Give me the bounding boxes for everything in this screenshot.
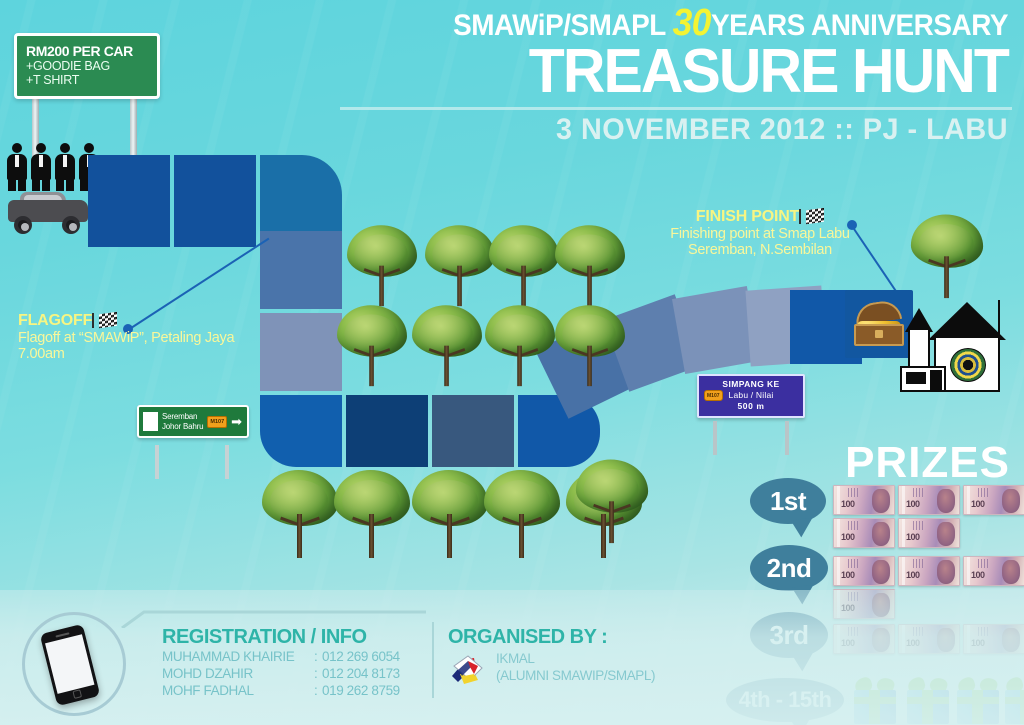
header-divider bbox=[340, 107, 1012, 110]
finish-line2: Seremban, N.Sembilan bbox=[640, 242, 880, 258]
banknote-icon: 100 bbox=[898, 485, 960, 515]
prize-rank-bubble: 1st bbox=[750, 478, 826, 524]
simpang-post-left bbox=[713, 421, 717, 455]
tree-icon bbox=[551, 225, 628, 308]
banknote-value: 100 bbox=[906, 570, 920, 580]
price-sign-line1: RM200 PER CAR bbox=[26, 43, 149, 59]
organiser-row: IKMAL (ALUMNI SMAWIP/SMAPL) bbox=[448, 650, 748, 692]
contact-separator: : bbox=[314, 682, 322, 699]
tree-icon bbox=[408, 305, 485, 388]
tree-icon bbox=[572, 460, 652, 546]
banknote-value: 100 bbox=[906, 499, 920, 509]
price-sign-line2: +GOODIE BAG bbox=[26, 59, 149, 73]
footer-divider bbox=[432, 622, 434, 698]
checkered-flag-icon bbox=[99, 312, 117, 329]
sign-post-right bbox=[130, 96, 137, 158]
banknote-value: 100 bbox=[906, 532, 920, 542]
price-sign-line3: +T SHIRT bbox=[26, 73, 149, 87]
seremban-sign-text: Seremban Johor Bahru bbox=[162, 412, 203, 431]
contact-name: MOHD DZAHIR bbox=[162, 665, 314, 682]
header-title: TREASURE HUNT bbox=[373, 43, 1008, 101]
registration-contact-list: MUHAMMAD KHAIRIE:012 269 6054MOHD DZAHIR… bbox=[162, 648, 422, 699]
highway-symbol-icon bbox=[143, 412, 158, 431]
finish-title-row: FINISH POINT bbox=[640, 208, 880, 226]
registration-contact-row: MUHAMMAD KHAIRIE:012 269 6054 bbox=[162, 648, 422, 665]
seremban-destination-1: Seremban bbox=[162, 412, 203, 422]
organiser-block: ORGANISED BY : IKMAL (ALUMNI SMAWIP/SMAP… bbox=[448, 626, 748, 692]
registration-contact-row: MOHF FADHAL:019 262 8759 bbox=[162, 682, 422, 699]
route-tile bbox=[174, 155, 256, 247]
seremban-post-left bbox=[155, 445, 159, 479]
school-building-icon bbox=[900, 300, 1024, 410]
contact-phone[interactable]: 012 204 8173 bbox=[322, 665, 400, 682]
banknote-value: 100 bbox=[971, 499, 985, 509]
contact-name: MOHF FADHAL bbox=[162, 682, 314, 699]
seremban-destination-2: Johor Bahru bbox=[162, 422, 203, 432]
tree-icon bbox=[551, 305, 628, 388]
right-arrow-icon: ➡ bbox=[231, 417, 242, 427]
banknote-value: 100 bbox=[971, 570, 985, 580]
contact-separator: : bbox=[314, 648, 322, 665]
banknote-value: 100 bbox=[841, 499, 855, 509]
finish-checkered-flag-icon bbox=[806, 208, 824, 225]
simpang-line1: SIMPANG KE bbox=[703, 379, 799, 390]
route-tile bbox=[432, 395, 514, 467]
registration-bracket bbox=[118, 606, 428, 628]
price-signboard: RM200 PER CAR +GOODIE BAG +T SHIRT bbox=[14, 33, 160, 161]
prize-rank-label: 2nd bbox=[767, 553, 812, 584]
tree-icon bbox=[481, 305, 558, 388]
seremban-post-right bbox=[225, 445, 229, 479]
flagoff-title: FLAGOFF bbox=[18, 312, 92, 329]
tree-icon bbox=[907, 215, 987, 301]
contact-phone[interactable]: 019 262 8759 bbox=[322, 682, 400, 699]
route-tile bbox=[346, 395, 428, 467]
flagoff-line1: Flagoff at “SMAWiP”, Petaling Jaya bbox=[18, 330, 288, 346]
car-icon bbox=[8, 192, 88, 236]
route-tile bbox=[88, 155, 170, 247]
contact-phone[interactable]: 012 269 6054 bbox=[322, 648, 400, 665]
seremban-route-badge: M107 bbox=[207, 416, 227, 428]
participant-figure-icon bbox=[6, 143, 28, 191]
finish-title: FINISH POINT bbox=[696, 208, 799, 225]
registration-title: REGISTRATION / INFO bbox=[162, 626, 422, 648]
contact-separator: : bbox=[314, 665, 322, 682]
simpang-sign-board: SIMPANG KE Labu / Nilai 500 m M107 bbox=[697, 374, 805, 418]
tree-icon bbox=[330, 470, 414, 560]
participant-figure-icon bbox=[54, 143, 76, 191]
tree-icon bbox=[343, 225, 420, 308]
price-sign-board: RM200 PER CAR +GOODIE BAG +T SHIRT bbox=[14, 33, 160, 99]
banknote-icon: 100 bbox=[898, 556, 960, 586]
banknote-icon: 100 bbox=[833, 485, 895, 515]
prize-rank-bubble: 2nd bbox=[750, 545, 828, 591]
prize-rank-label: 1st bbox=[770, 486, 806, 517]
poster-canvas: SMAWiP/SMAPL 30YEARS ANNIVERSARY TREASUR… bbox=[0, 0, 1024, 725]
flagoff-line2: 7.00am bbox=[18, 346, 288, 362]
banknote-icon: 100 bbox=[833, 518, 895, 548]
simpang-line3: 500 m bbox=[703, 401, 799, 412]
prizes-heading: PRIZES bbox=[845, 440, 1010, 486]
seremban-sign-board: Seremban Johor Bahru M107 ➡ bbox=[137, 405, 249, 438]
contact-name: MUHAMMAD KHAIRIE bbox=[162, 648, 314, 665]
route-tile bbox=[260, 395, 342, 467]
seremban-road-sign: Seremban Johor Bahru M107 ➡ bbox=[137, 405, 249, 438]
organiser-name: IKMAL bbox=[496, 650, 655, 667]
banknote-icon: 100 bbox=[963, 485, 1024, 515]
ikmal-logo-icon bbox=[448, 652, 488, 692]
organiser-title: ORGANISED BY : bbox=[448, 626, 748, 648]
registration-contact-row: MOHD DZAHIR:012 204 8173 bbox=[162, 665, 422, 682]
banknote-icon: 100 bbox=[963, 556, 1024, 586]
checkered-flag-pole-icon bbox=[92, 313, 94, 328]
simpang-road-sign: SIMPANG KE Labu / Nilai 500 m M107 bbox=[697, 374, 805, 418]
flagoff-callout: FLAGOFF Flagoff at “SMAWiP”, Petaling Ja… bbox=[18, 312, 288, 362]
tree-icon bbox=[480, 470, 564, 560]
flagoff-title-row: FLAGOFF bbox=[18, 312, 288, 330]
participant-figure-icon bbox=[30, 143, 52, 191]
organiser-lines: IKMAL (ALUMNI SMAWIP/SMAPL) bbox=[496, 650, 655, 684]
banknote-icon: 100 bbox=[833, 556, 895, 586]
registration-block: REGISTRATION / INFO MUHAMMAD KHAIRIE:012… bbox=[162, 626, 422, 699]
banknote-icon: 100 bbox=[898, 518, 960, 548]
finish-flag-pole-icon bbox=[799, 209, 801, 224]
banknote-value: 100 bbox=[841, 570, 855, 580]
finish-callout: FINISH POINT Finishing point at Smap Lab… bbox=[640, 208, 880, 258]
simpang-route-badge: M107 bbox=[704, 390, 723, 401]
poster-header: SMAWiP/SMAPL 30YEARS ANNIVERSARY TREASUR… bbox=[340, 0, 1024, 142]
route-tile bbox=[260, 231, 342, 309]
tree-icon bbox=[333, 305, 410, 388]
banknote-value: 100 bbox=[841, 532, 855, 542]
simpang-post-right bbox=[785, 421, 789, 455]
finish-line1: Finishing point at Smap Labu bbox=[640, 226, 880, 242]
header-date-route: 3 NOVEMBER 2012 :: PJ - LABU bbox=[367, 114, 1008, 146]
school-crest-icon bbox=[950, 348, 986, 382]
organiser-subtitle: (ALUMNI SMAWIP/SMAPL) bbox=[496, 667, 655, 684]
